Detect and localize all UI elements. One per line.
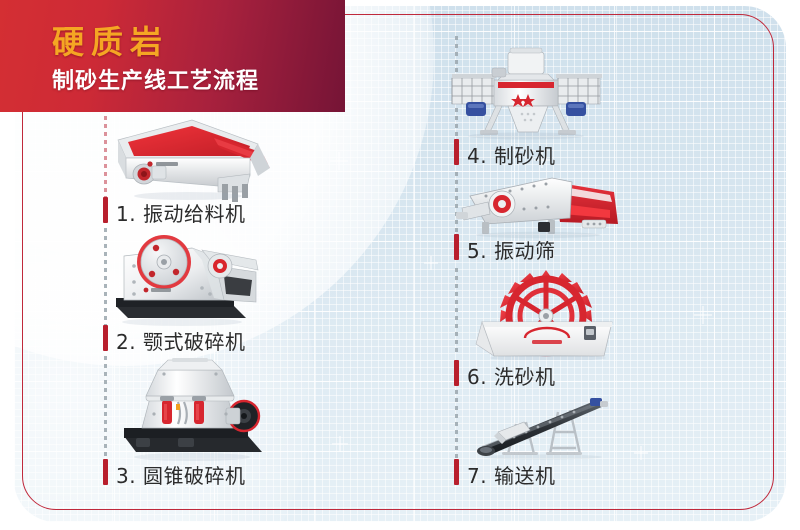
machine-belt-conveyor [472, 392, 624, 460]
step-label-7: 7. 输送机 [467, 460, 555, 489]
step-marker-2 [103, 325, 108, 351]
machine-cone-crusher [116, 358, 271, 462]
machine-vibrating-screen [452, 168, 620, 240]
step-marker-5 [454, 234, 459, 260]
banner-title-sub: 制砂生产线工艺流程 [52, 63, 259, 95]
step-label-5: 5. 振动筛 [467, 235, 555, 264]
connector-line-left-3 [104, 356, 107, 460]
step-marker-3 [103, 459, 108, 485]
step-marker-7 [454, 459, 459, 485]
step-label-3: 3. 圆锥破碎机 [116, 460, 245, 489]
step-label-2: 2. 颚式破碎机 [116, 326, 245, 355]
machine-sand-making-machine [446, 44, 606, 140]
machine-vibrating-feeder [100, 112, 275, 202]
machine-jaw-crusher [106, 226, 271, 328]
step-label-4: 4. 制砂机 [467, 140, 555, 169]
step-label-6: 6. 洗砂机 [467, 361, 555, 390]
step-marker-6 [454, 360, 459, 386]
connector-line-right-4 [455, 390, 458, 458]
banner-title-main: 硬质岩 [52, 17, 169, 63]
infographic-canvas: 1. 振动给料机 [0, 0, 800, 530]
step-label-1: 1. 振动给料机 [116, 198, 245, 227]
step-marker-1 [103, 197, 108, 223]
connector-line-right-3 [455, 268, 458, 356]
step-marker-4 [454, 139, 459, 165]
machine-sand-washer [472, 264, 622, 360]
title-banner: 硬质岩 制砂生产线工艺流程 [0, 0, 345, 112]
